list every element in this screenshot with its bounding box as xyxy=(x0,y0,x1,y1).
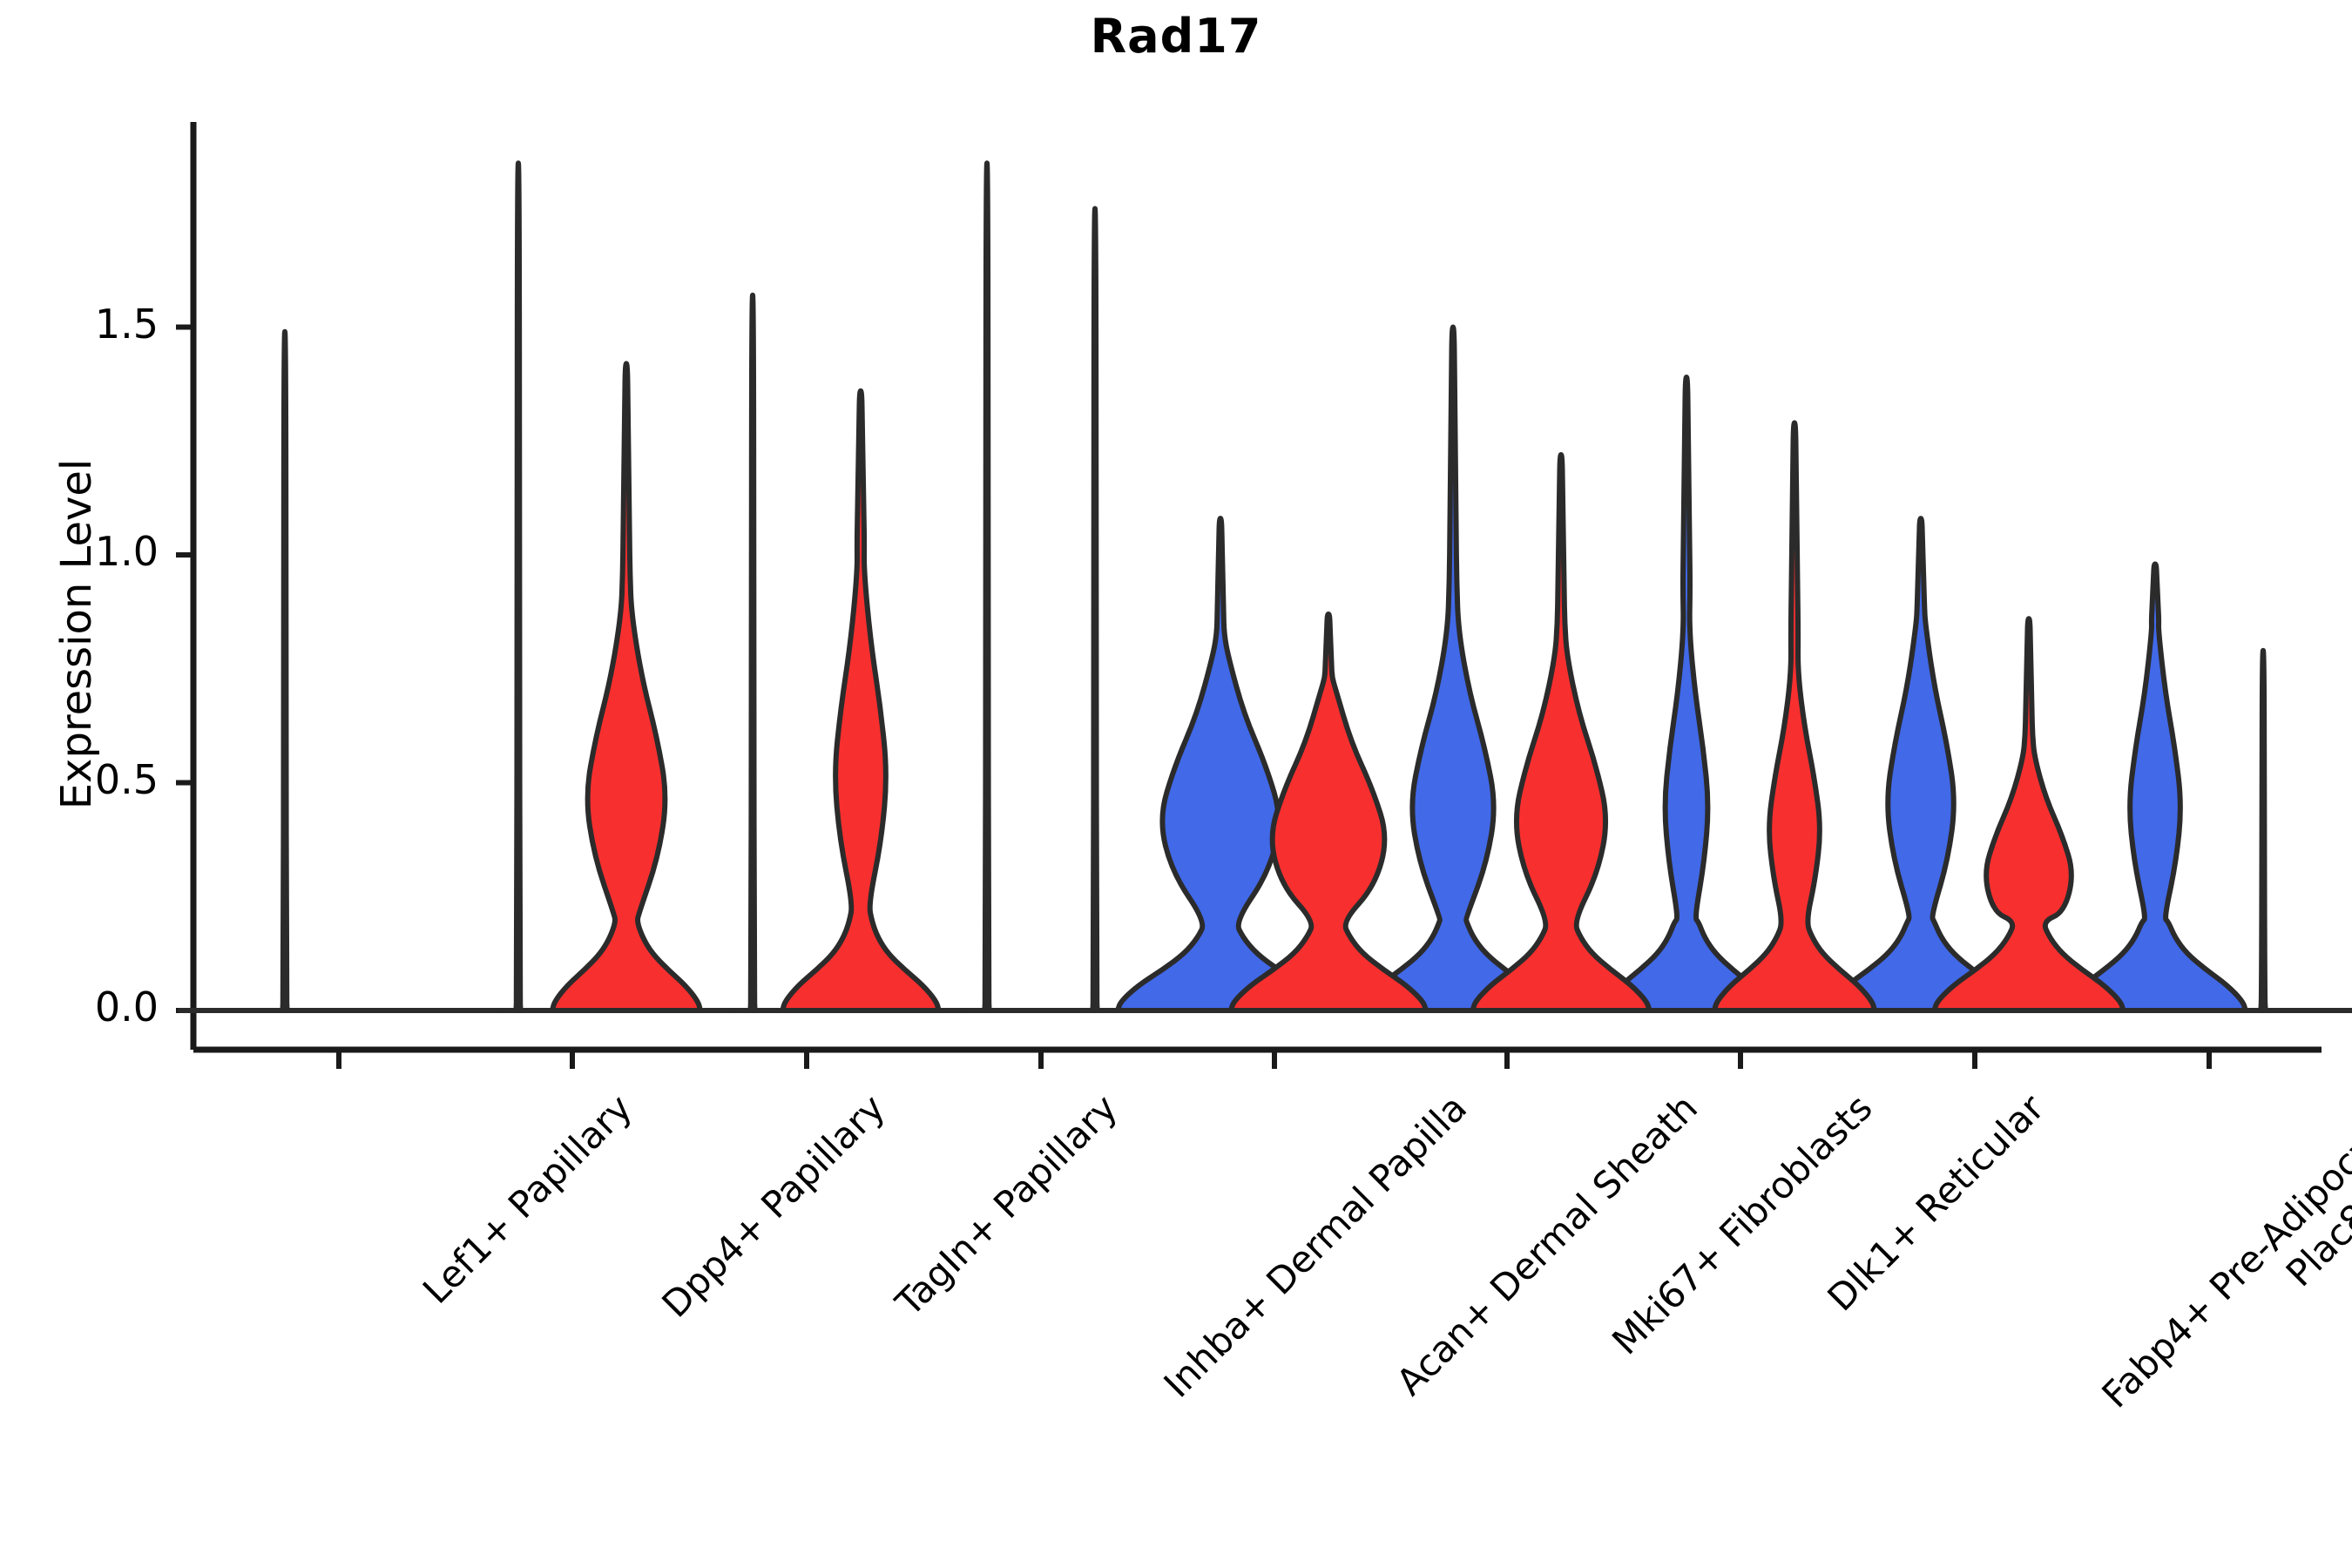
violin-blue-0 xyxy=(282,332,287,1010)
violin-blue-8 xyxy=(2065,564,2246,1010)
violin-body xyxy=(1828,518,2013,1010)
violin-red-2 xyxy=(782,391,938,1010)
violin-body xyxy=(552,363,700,1010)
violin-body xyxy=(282,332,287,1010)
violin-blue-2 xyxy=(750,295,754,1010)
violin-plot-figure: Rad17 Expression Level 0.00.51.01.5 Lef1… xyxy=(0,0,2352,1568)
axis-layer xyxy=(176,122,2322,1069)
violin-blue-5 xyxy=(1361,328,1545,1011)
violin-body xyxy=(1118,518,1323,1010)
violin-red-7 xyxy=(1934,618,2123,1010)
violin-body xyxy=(1934,618,2123,1010)
violin-body xyxy=(1714,422,1875,1010)
violin-body xyxy=(516,163,520,1010)
violin-blue-7 xyxy=(1828,518,2013,1010)
violin-red-5 xyxy=(1473,455,1650,1010)
violin-red-1 xyxy=(552,363,700,1010)
violin-red-6 xyxy=(1714,422,1875,1010)
plot-canvas xyxy=(0,0,2352,1568)
violin-layer xyxy=(180,163,2352,1010)
violin-body xyxy=(782,391,938,1010)
violin-blue-1 xyxy=(516,163,520,1010)
violin-body xyxy=(1361,328,1545,1011)
violin-red-3 xyxy=(1092,209,1097,1010)
violin-body xyxy=(2065,564,2246,1010)
violin-body xyxy=(750,295,754,1010)
violin-blue-4 xyxy=(1118,518,1323,1010)
violin-body xyxy=(1605,377,1769,1010)
violin-blue-6 xyxy=(1605,377,1769,1010)
violin-body xyxy=(1473,455,1650,1010)
violin-body xyxy=(984,163,989,1010)
violin-body xyxy=(1092,209,1097,1010)
violin-red-8 xyxy=(2261,651,2265,1010)
violin-body xyxy=(2261,651,2265,1010)
violin-blue-3 xyxy=(984,163,989,1010)
